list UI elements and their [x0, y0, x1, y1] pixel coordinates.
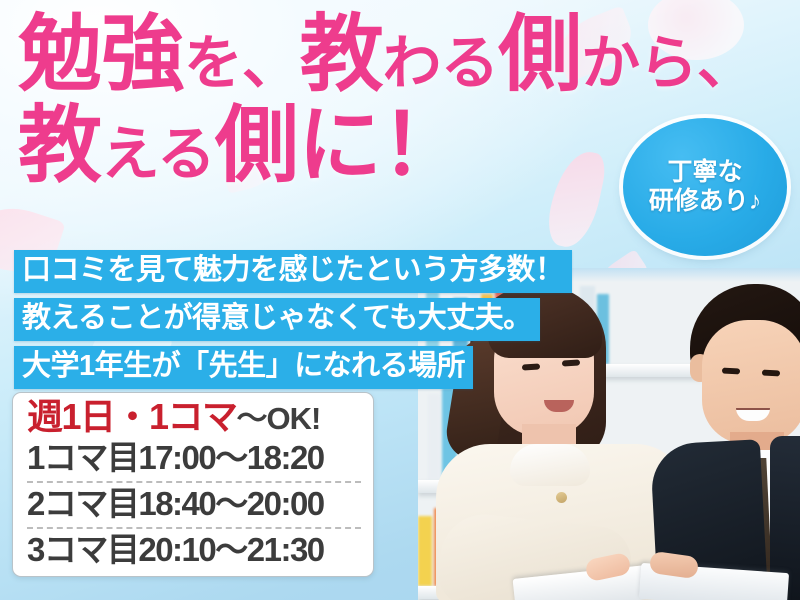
schedule-headline-ok: 〜OK!	[237, 401, 321, 436]
schedule-row-3: 3コマ目20:10〜21:30	[27, 529, 361, 573]
headline-line-1: 勉強を、教わる側から、	[18, 14, 755, 95]
training-badge: 丁寧な 研修あり♪	[623, 118, 787, 256]
schedule-row-2: 2コマ目18:40〜20:00	[27, 483, 361, 529]
schedule-row-1: 1コマ目17:00〜18:20	[27, 437, 361, 483]
schedule-headline: 週1日・1コマ〜OK!	[27, 399, 361, 436]
badge-line-1: 丁寧な	[667, 158, 742, 187]
banner-row: 教えることが得意じゃなくても大丈夫。	[14, 298, 572, 346]
highlight-banners: 口コミを見て魅力を感じたという方多数！ 教えることが得意じゃなくても大丈夫。 大…	[14, 250, 572, 394]
banner-text-2: 教えることが得意じゃなくても大丈夫。	[14, 298, 540, 341]
banner-text-3: 大学1年生が「先生」になれる場所	[14, 346, 473, 389]
poster-root: 勉強を、教わる側から、 教える側に！ 丁寧な 研修あり♪ 口コミを見て魅力を感じ…	[0, 0, 800, 600]
badge-line-2: 研修あり♪	[649, 187, 762, 216]
banner-row: 口コミを見て魅力を感じたという方多数！	[14, 250, 572, 298]
banner-row: 大学1年生が「先生」になれる場所	[14, 346, 572, 394]
schedule-headline-red: 週1日・1コマ	[27, 396, 237, 437]
schedule-box: 週1日・1コマ〜OK! 1コマ目17:00〜18:20 2コマ目18:40〜20…	[12, 392, 374, 577]
banner-text-1: 口コミを見て魅力を感じたという方多数！	[14, 250, 572, 293]
